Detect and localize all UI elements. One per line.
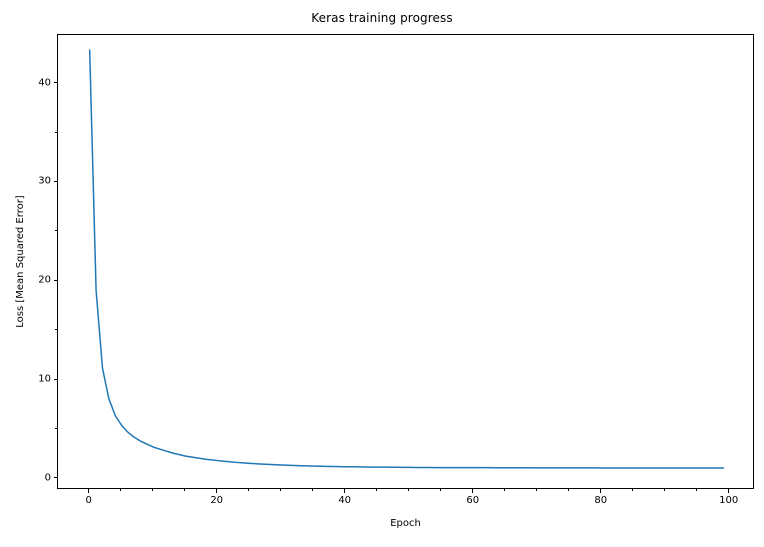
x-tick-mark bbox=[344, 489, 345, 493]
x-tick-minor bbox=[536, 489, 537, 491]
x-tick-label: 0 bbox=[85, 495, 91, 506]
x-tick-mark bbox=[600, 489, 601, 493]
x-tick-label: 80 bbox=[594, 495, 607, 506]
y-tick-minor bbox=[55, 230, 57, 231]
x-tick-minor bbox=[184, 489, 185, 491]
x-tick-minor bbox=[696, 489, 697, 491]
matplotlib-figure: Keras training progress 020406080100 010… bbox=[0, 0, 764, 547]
x-tick-minor bbox=[568, 489, 569, 491]
y-tick-minor bbox=[55, 428, 57, 429]
y-tick-mark bbox=[54, 280, 58, 281]
x-tick-mark bbox=[472, 489, 473, 493]
y-tick-mark bbox=[54, 82, 58, 83]
x-tick-minor bbox=[376, 489, 377, 491]
y-tick-mark bbox=[54, 379, 58, 380]
x-tick-minor bbox=[120, 489, 121, 491]
y-tick-minor bbox=[55, 132, 57, 133]
x-tick-minor bbox=[504, 489, 505, 491]
loss-line-series bbox=[90, 50, 724, 468]
x-tick-label: 60 bbox=[466, 495, 479, 506]
y-tick-minor bbox=[55, 329, 57, 330]
x-tick-label: 20 bbox=[210, 495, 223, 506]
x-tick-minor bbox=[248, 489, 249, 491]
x-tick-mark bbox=[728, 489, 729, 493]
x-tick-minor bbox=[280, 489, 281, 491]
x-tick-mark bbox=[88, 489, 89, 493]
x-tick-label: 40 bbox=[338, 495, 351, 506]
x-axis-label: Epoch bbox=[57, 518, 754, 529]
x-tick-minor bbox=[440, 489, 441, 491]
x-tick-minor bbox=[312, 489, 313, 491]
plot-axes bbox=[57, 34, 754, 489]
x-tick-label: 100 bbox=[719, 495, 738, 506]
plot-canvas bbox=[58, 35, 755, 490]
x-tick-mark bbox=[216, 489, 217, 493]
y-tick-mark bbox=[54, 181, 58, 182]
x-tick-minor bbox=[408, 489, 409, 491]
x-tick-minor bbox=[632, 489, 633, 491]
chart-title: Keras training progress bbox=[0, 11, 764, 25]
x-tick-minor bbox=[152, 489, 153, 491]
x-tick-minor bbox=[664, 489, 665, 491]
y-axis-label: Loss [Mean Squared Error] bbox=[14, 34, 28, 489]
y-tick-mark bbox=[54, 477, 58, 478]
